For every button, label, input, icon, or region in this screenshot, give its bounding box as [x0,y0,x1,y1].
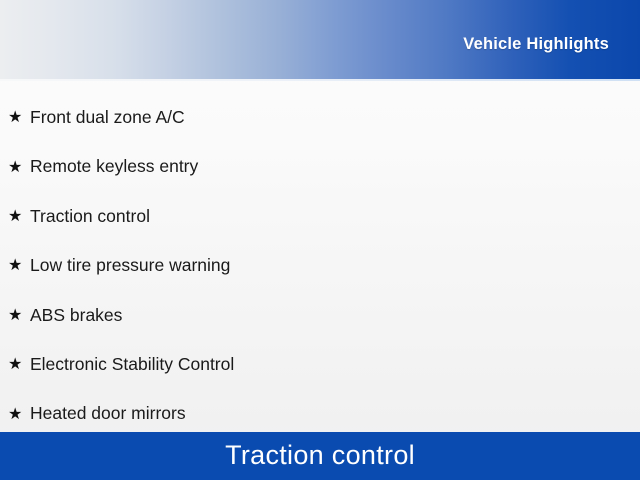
list-item: ★ Front dual zone A/C [0,93,640,142]
header-banner: Vehicle Highlights [0,0,640,79]
vehicle-highlights-list: ★ Front dual zone A/C ★ Remote keyless e… [0,93,640,439]
star-icon: ★ [8,257,30,274]
footer-caption-text: Traction control [225,442,415,471]
list-item-label: Electronic Stability Control [30,355,234,374]
list-item-label: ABS brakes [30,306,122,325]
list-item: ★ ABS brakes [0,291,640,340]
star-icon: ★ [8,406,30,423]
star-icon: ★ [8,159,30,176]
star-icon: ★ [8,208,30,225]
footer-caption-bar: Traction control [0,432,640,480]
star-icon: ★ [8,307,30,324]
star-icon: ★ [8,356,30,373]
list-item: ★ Traction control [0,192,640,241]
list-item: ★ Low tire pressure warning [0,241,640,290]
list-item-label: Heated door mirrors [30,404,186,423]
list-item: ★ Electronic Stability Control [0,340,640,389]
star-icon: ★ [8,109,30,126]
header-divider [0,79,640,81]
list-item-label: Front dual zone A/C [30,108,185,127]
list-item-label: Traction control [30,207,150,226]
list-item: ★ Remote keyless entry [0,142,640,191]
vehicle-highlights-slide: Vehicle Highlights ★ Front dual zone A/C… [0,0,640,480]
page-title: Vehicle Highlights [463,25,640,54]
list-item-label: Low tire pressure warning [30,256,230,275]
list-item-label: Remote keyless entry [30,157,198,176]
